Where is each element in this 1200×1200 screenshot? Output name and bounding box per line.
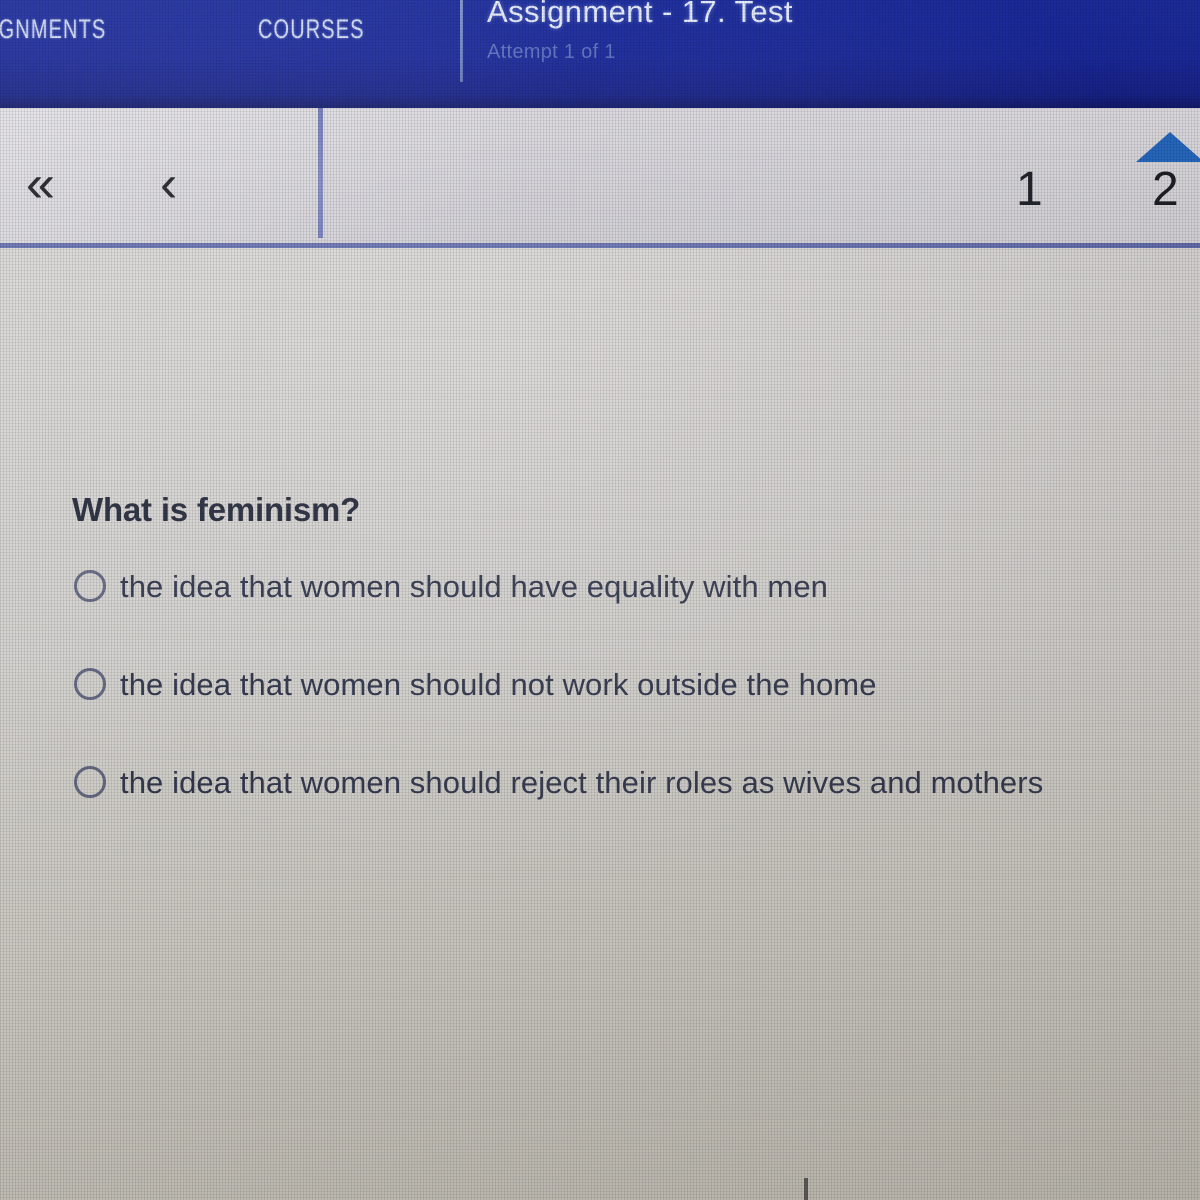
radio-button-icon[interactable] [74, 668, 106, 700]
previous-page-icon[interactable]: ‹ [160, 158, 177, 210]
answer-option-label: the idea that women should reject their … [120, 767, 1043, 798]
assignment-title: Assignment - 17. Test [487, 0, 793, 30]
page-number-1[interactable]: 1 [1016, 166, 1043, 214]
answer-option-0[interactable]: the idea that women should have equality… [74, 570, 828, 602]
text-cursor-artifact [804, 1178, 808, 1200]
assignment-attempt-text: Attempt 1 of 1 [487, 41, 793, 64]
answer-option-1[interactable]: the idea that women should not work outs… [74, 668, 877, 700]
nav-link-courses[interactable]: COURSES [258, 14, 365, 45]
answer-option-label: the idea that women should have equality… [120, 571, 828, 602]
answer-option-2[interactable]: the idea that women should reject their … [74, 766, 1043, 798]
top-navigation-bar: IGNMENTS COURSES Assignment - 17. Test A… [0, 0, 1200, 108]
first-page-icon[interactable]: « [26, 158, 55, 210]
toolbar-vertical-divider [318, 108, 323, 238]
pagination-toolbar: « ‹ 1 2 [0, 108, 1200, 248]
radio-button-icon[interactable] [74, 570, 106, 602]
quiz-screen: IGNMENTS COURSES Assignment - 17. Test A… [0, 0, 1200, 1200]
radio-button-icon[interactable] [74, 766, 106, 798]
question-content-area: What is feminism? the idea that women sh… [0, 248, 1200, 1200]
nav-link-assignments[interactable]: IGNMENTS [0, 14, 106, 45]
nav-vertical-divider [460, 0, 463, 82]
question-title: What is feminism? [72, 491, 360, 529]
assignment-info: Assignment - 17. Test Attempt 1 of 1 [487, 0, 793, 64]
answer-option-label: the idea that women should not work outs… [120, 669, 877, 700]
page-number-2[interactable]: 2 [1152, 166, 1179, 214]
active-page-indicator-triangle [1136, 132, 1200, 162]
